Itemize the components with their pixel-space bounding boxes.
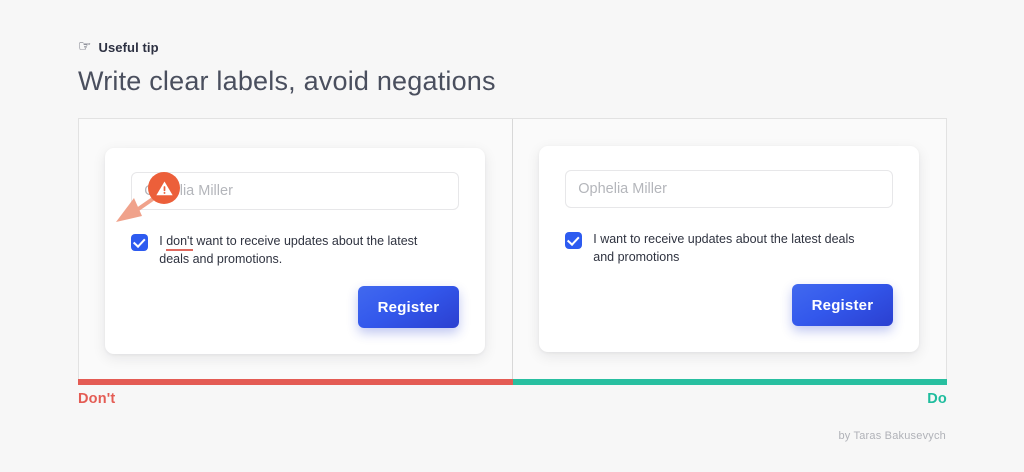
dont-label: Don't bbox=[78, 391, 115, 407]
name-input-do[interactable] bbox=[565, 170, 893, 208]
do-button-row: Register bbox=[565, 284, 893, 326]
verdict-bars bbox=[78, 379, 947, 385]
newsletter-checkbox-row-do: I want to receive updates about the late… bbox=[565, 231, 893, 267]
do-label: Do bbox=[927, 391, 947, 407]
newsletter-checkbox-dont[interactable] bbox=[131, 234, 148, 251]
newsletter-checkbox-do[interactable] bbox=[565, 232, 582, 249]
dont-button-row: Register bbox=[131, 286, 459, 328]
name-input-dont[interactable] bbox=[131, 172, 459, 210]
useful-tip-row: ☞ Useful tip bbox=[78, 38, 958, 56]
dont-panel: I don't want to receive updates about th… bbox=[79, 119, 513, 379]
verdict-labels: Don't Do bbox=[78, 391, 947, 407]
do-form-card: I want to receive updates about the late… bbox=[539, 146, 919, 353]
newsletter-label-do: I want to receive updates about the late… bbox=[593, 231, 863, 267]
pointing-hand-icon: ☞ bbox=[78, 39, 91, 54]
do-bar bbox=[513, 379, 948, 385]
author-credit: by Taras Bakusevych bbox=[838, 430, 946, 442]
register-button-do[interactable]: Register bbox=[792, 284, 894, 326]
newsletter-checkbox-row-dont: I don't want to receive updates about th… bbox=[131, 233, 459, 269]
dont-bar bbox=[78, 379, 513, 385]
label-text-after: want to receive updates about the latest… bbox=[159, 234, 417, 266]
register-button-dont[interactable]: Register bbox=[358, 286, 460, 328]
page-title: Write clear labels, avoid negations bbox=[78, 66, 958, 97]
negation-word: don't bbox=[166, 234, 193, 251]
tip-label: Useful tip bbox=[98, 40, 158, 55]
dont-form-card: I don't want to receive updates about th… bbox=[105, 148, 485, 355]
page-header: ☞ Useful tip Write clear labels, avoid n… bbox=[78, 38, 958, 97]
newsletter-label-dont: I don't want to receive updates about th… bbox=[159, 233, 429, 269]
comparison-panel: I don't want to receive updates about th… bbox=[78, 118, 947, 380]
do-panel: I want to receive updates about the late… bbox=[513, 119, 947, 379]
